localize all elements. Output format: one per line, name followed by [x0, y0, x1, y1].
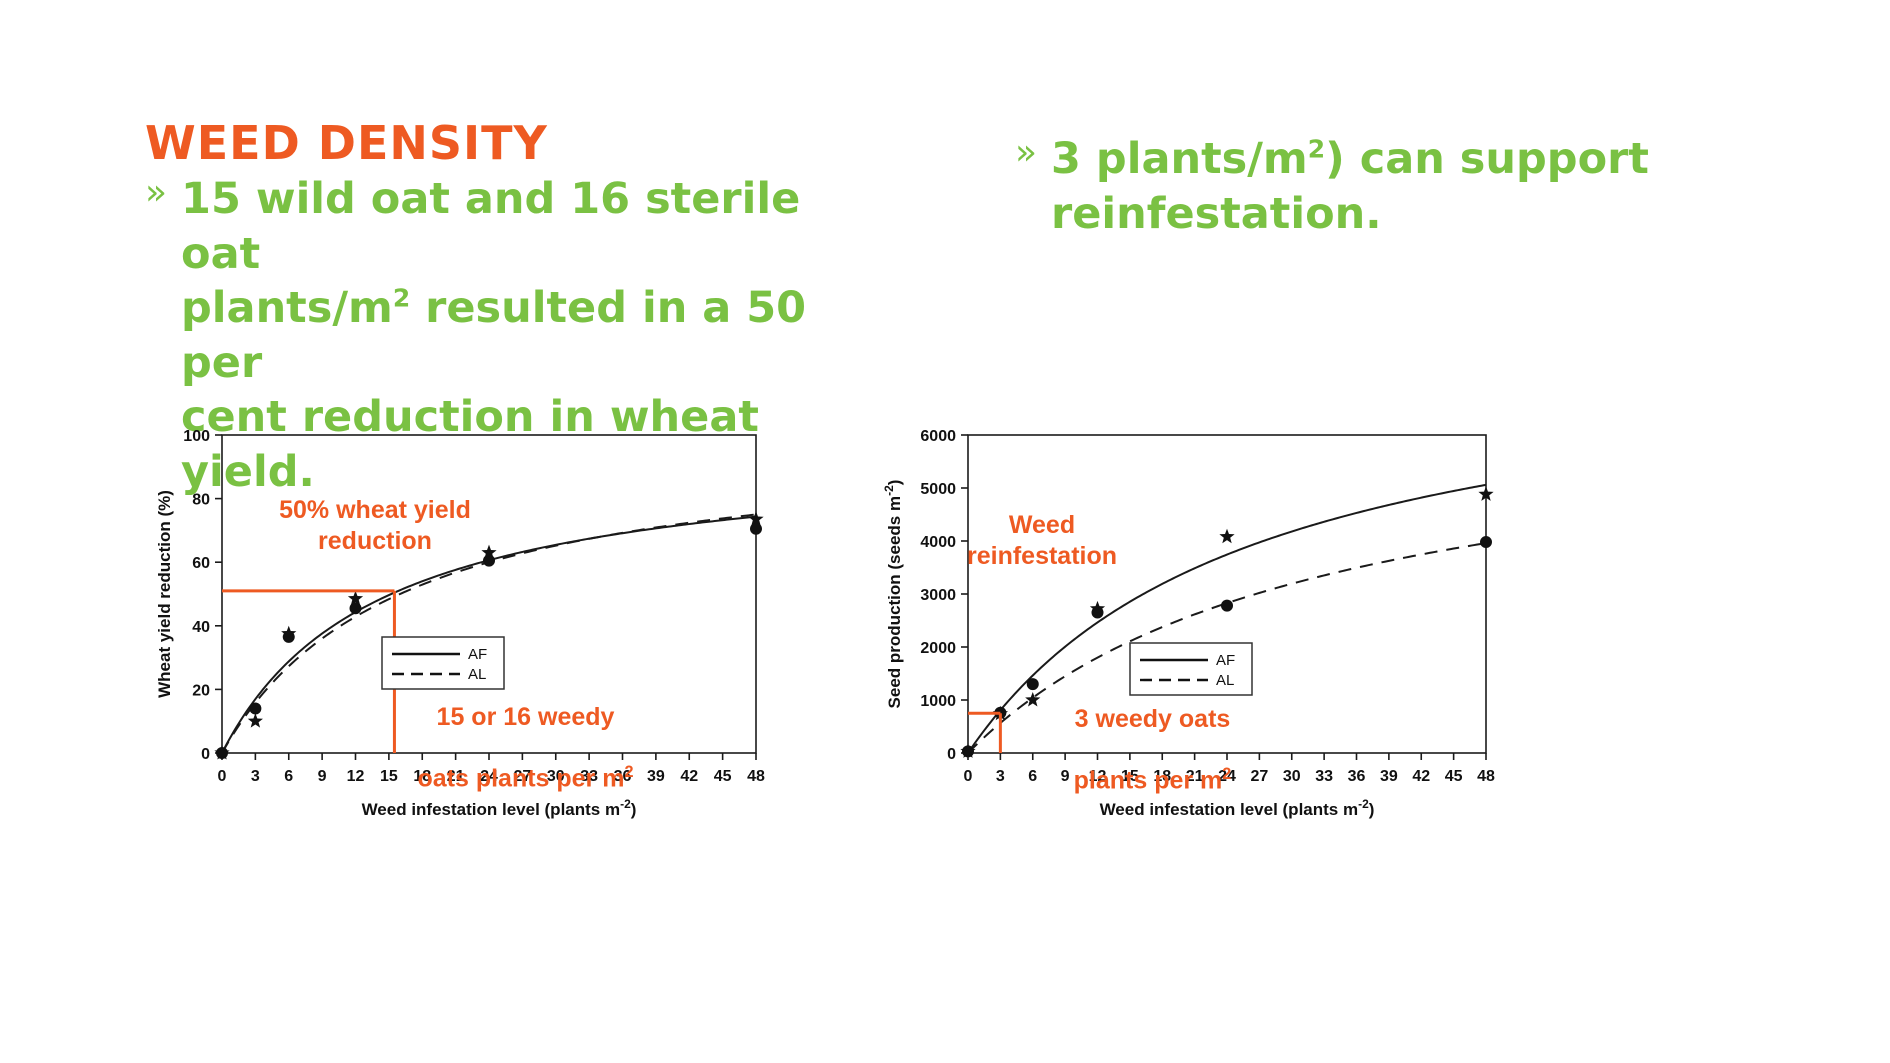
y-axis-tick-label: 80	[192, 492, 210, 509]
data-point-AF	[483, 555, 495, 567]
bullet-left-line2-a: plants/m	[181, 283, 393, 333]
anno-left-bottom-line2: oats plants per m	[417, 764, 624, 792]
annotation-line: reduction	[318, 527, 432, 555]
bullet-right-text: 3 plants/m2) can support reinfestation.	[1051, 132, 1649, 241]
data-point-AL	[1219, 529, 1234, 543]
x-axis-tick-label: 15	[380, 768, 398, 785]
anno-left-bottom-line1: 15 or 16 weedy	[437, 703, 615, 731]
text-column-right: » 3 plants/m2) can support reinfestation…	[1015, 132, 1655, 241]
x-axis-tick-label: 45	[714, 768, 732, 785]
x-axis-tick-label: 42	[1412, 768, 1430, 785]
x-axis-tick-label: 0	[964, 768, 973, 785]
x-axis-tick-label: 36	[1348, 768, 1366, 785]
x-axis-tick-label: 9	[318, 768, 327, 785]
x-axis-tick-label: 3	[251, 768, 260, 785]
x-axis-title: Weed infestation level (plants m-2)	[362, 797, 637, 819]
x-axis-tick-label: 39	[647, 768, 665, 785]
x-axis-tick-label: 33	[1315, 768, 1333, 785]
y-axis-tick-label: 60	[192, 555, 210, 572]
anno-right-bottom-line2: plants per m	[1074, 766, 1223, 794]
y-axis-tick-label: 3000	[920, 587, 956, 604]
bullet-right: » 3 plants/m2) can support reinfestation…	[1015, 132, 1655, 241]
x-axis-tick-label: 30	[1283, 768, 1301, 785]
bullet-right-line1-a: 3 plants/m	[1051, 134, 1308, 184]
anno-right-bottom-sup: 2	[1222, 765, 1231, 783]
bullet-right-line2: reinfestation.	[1051, 189, 1382, 239]
bullet-right-line1-sup: 2	[1308, 135, 1325, 164]
bullet-marker-icon: »	[145, 172, 167, 214]
annotation-15-or-16-weedy-oats: 15 or 16 weedy oats plants per m2	[408, 671, 643, 793]
x-axis-tick-label: 12	[347, 768, 365, 785]
data-point-AF	[1480, 536, 1492, 548]
annotation-line: 50% wheat yield	[279, 496, 471, 524]
x-axis-tick-label: 48	[747, 768, 765, 785]
x-axis-title: Weed infestation level (plants m-2)	[1100, 797, 1375, 819]
y-axis-tick-label: 0	[201, 746, 210, 763]
y-axis-tick-label: 100	[183, 428, 210, 445]
bullet-right-line1-b: ) can support	[1325, 134, 1649, 184]
x-axis-tick-label: 48	[1477, 768, 1495, 785]
y-axis-title: Wheat yield reduction (%)	[155, 490, 174, 698]
legend-label-AF: AF	[1216, 652, 1235, 669]
y-axis-tick-label: 20	[192, 682, 210, 699]
y-axis-tick-label: 6000	[920, 428, 956, 445]
y-axis-title: Seed production (seeds m-2)	[882, 480, 904, 709]
data-point-AF	[249, 702, 261, 714]
chart-seed-production: 0100020003000400050006000036912151821242…	[880, 415, 1500, 845]
page-title: Weed density	[145, 120, 875, 166]
x-axis-tick-label: 0	[218, 768, 227, 785]
legend-label-AF: AF	[468, 646, 487, 663]
anno-right-bottom-line1: 3 weedy oats	[1075, 705, 1231, 733]
annotation-line: Weed	[1009, 511, 1075, 539]
annotation-3-weedy-oats: 3 weedy oats plants per m2	[1045, 673, 1260, 795]
data-point-AF	[1221, 600, 1233, 612]
x-axis-tick-label: 45	[1445, 768, 1463, 785]
x-axis-tick-label: 6	[1028, 768, 1037, 785]
data-point-AF	[1027, 678, 1039, 690]
y-axis-tick-label: 2000	[920, 640, 956, 657]
x-axis-tick-label: 6	[284, 768, 293, 785]
chart-wheat-yield-reduction: 0204060801000369121518212427303336394245…	[150, 415, 770, 845]
y-axis-tick-label: 5000	[920, 481, 956, 498]
y-axis-tick-label: 0	[947, 746, 956, 763]
y-axis-tick-label: 4000	[920, 534, 956, 551]
x-axis-tick-label: 39	[1380, 768, 1398, 785]
bullet-marker-icon-right: »	[1015, 132, 1037, 174]
bullet-left-line2-sup: 2	[393, 284, 410, 313]
x-axis-tick-label: 3	[996, 768, 1005, 785]
annotation-line: reinfestation	[967, 542, 1117, 570]
x-axis-tick-label: 42	[680, 768, 698, 785]
anno-left-bottom-sup: 2	[624, 763, 633, 781]
slide-canvas: Weed density » 15 wild oat and 16 steril…	[0, 0, 1890, 1063]
annotation-50-percent-reduction: 50% wheat yieldreduction	[250, 495, 500, 556]
y-axis-tick-label: 1000	[920, 693, 956, 710]
y-axis-tick-label: 40	[192, 619, 210, 636]
bullet-left-line1: 15 wild oat and 16 sterile oat	[181, 174, 800, 279]
data-point-AL	[248, 713, 263, 727]
annotation-weed-reinfestation: Weedreinfestation	[962, 510, 1122, 571]
